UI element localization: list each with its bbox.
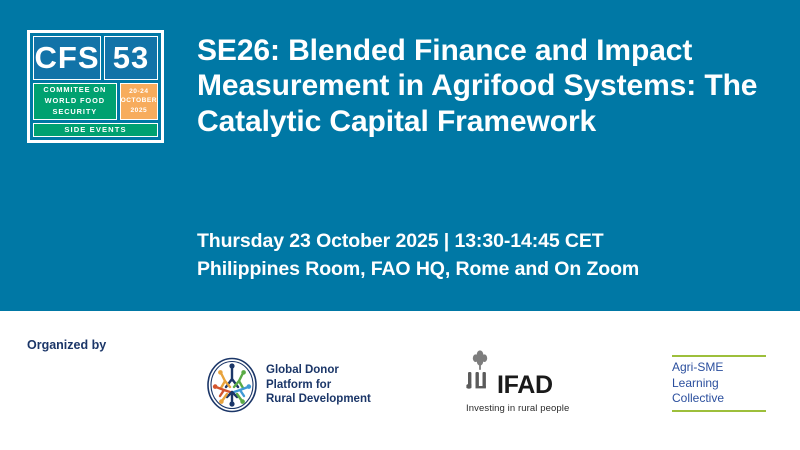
cfs-committee-name: COMMITEE ON WORLD FOOD SECURITY: [33, 83, 117, 119]
cfs-side-events-banner: SIDE EVENTS: [33, 123, 158, 137]
circular-figures-emblem-icon: [206, 357, 258, 413]
gdp-line-2: Platform for: [266, 378, 371, 393]
ifad-arabic-and-wheat-icon: [466, 350, 494, 399]
organized-by-label: Organized by: [27, 338, 106, 352]
global-donor-platform-wordmark: Global Donor Platform for Rural Developm…: [266, 363, 371, 407]
ifad-tagline: Investing in rural people: [466, 403, 591, 414]
cfs-session-number: 53: [104, 36, 158, 80]
cfs-logo-top-row: CFS 53: [33, 36, 158, 80]
aslc-line-3: Collective: [672, 391, 772, 407]
aslc-line-2: Learning: [672, 376, 772, 392]
ifad-mark: IFAD: [466, 357, 591, 399]
organizer-logos: Global Donor Platform for Rural Developm…: [0, 355, 800, 425]
cfs-53-logo: CFS 53 COMMITEE ON WORLD FOOD SECURITY 2…: [27, 30, 164, 143]
aslc-bottom-rule: [672, 410, 766, 412]
aslc-wordmark: Agri-SME Learning Collective: [672, 357, 772, 410]
cfs-acronym: CFS: [33, 36, 101, 80]
gdp-line-1: Global Donor: [266, 363, 371, 378]
aslc-line-1: Agri-SME: [672, 360, 772, 376]
gdp-line-3: Rural Development: [266, 392, 371, 407]
cfs-dates: 20-24 OCTOBER 2025: [120, 83, 158, 119]
logo-ifad: IFAD Investing in rural people: [466, 357, 591, 414]
cfs-logo-bottom-row: SIDE EVENTS: [33, 123, 158, 137]
logo-global-donor-platform: Global Donor Platform for Rural Developm…: [206, 357, 371, 413]
hero-band: CFS 53 COMMITEE ON WORLD FOOD SECURITY 2…: [0, 0, 800, 311]
event-location: Philippines Room, FAO HQ, Rome and On Zo…: [197, 256, 777, 284]
cfs-logo-middle-row: COMMITEE ON WORLD FOOD SECURITY 20-24 OC…: [33, 83, 158, 119]
event-date-time: Thursday 23 October 2025 | 13:30-14:45 C…: [197, 228, 777, 256]
logo-agri-sme-learning-collective: Agri-SME Learning Collective: [672, 355, 772, 412]
event-banner: CFS 53 COMMITEE ON WORLD FOOD SECURITY 2…: [0, 0, 800, 450]
footer-band: Organized by: [0, 311, 800, 450]
event-details: Thursday 23 October 2025 | 13:30-14:45 C…: [197, 228, 777, 283]
ifad-wordmark: IFAD: [497, 373, 553, 399]
event-title: SE26: Blended Finance and Impact Measure…: [197, 33, 772, 139]
